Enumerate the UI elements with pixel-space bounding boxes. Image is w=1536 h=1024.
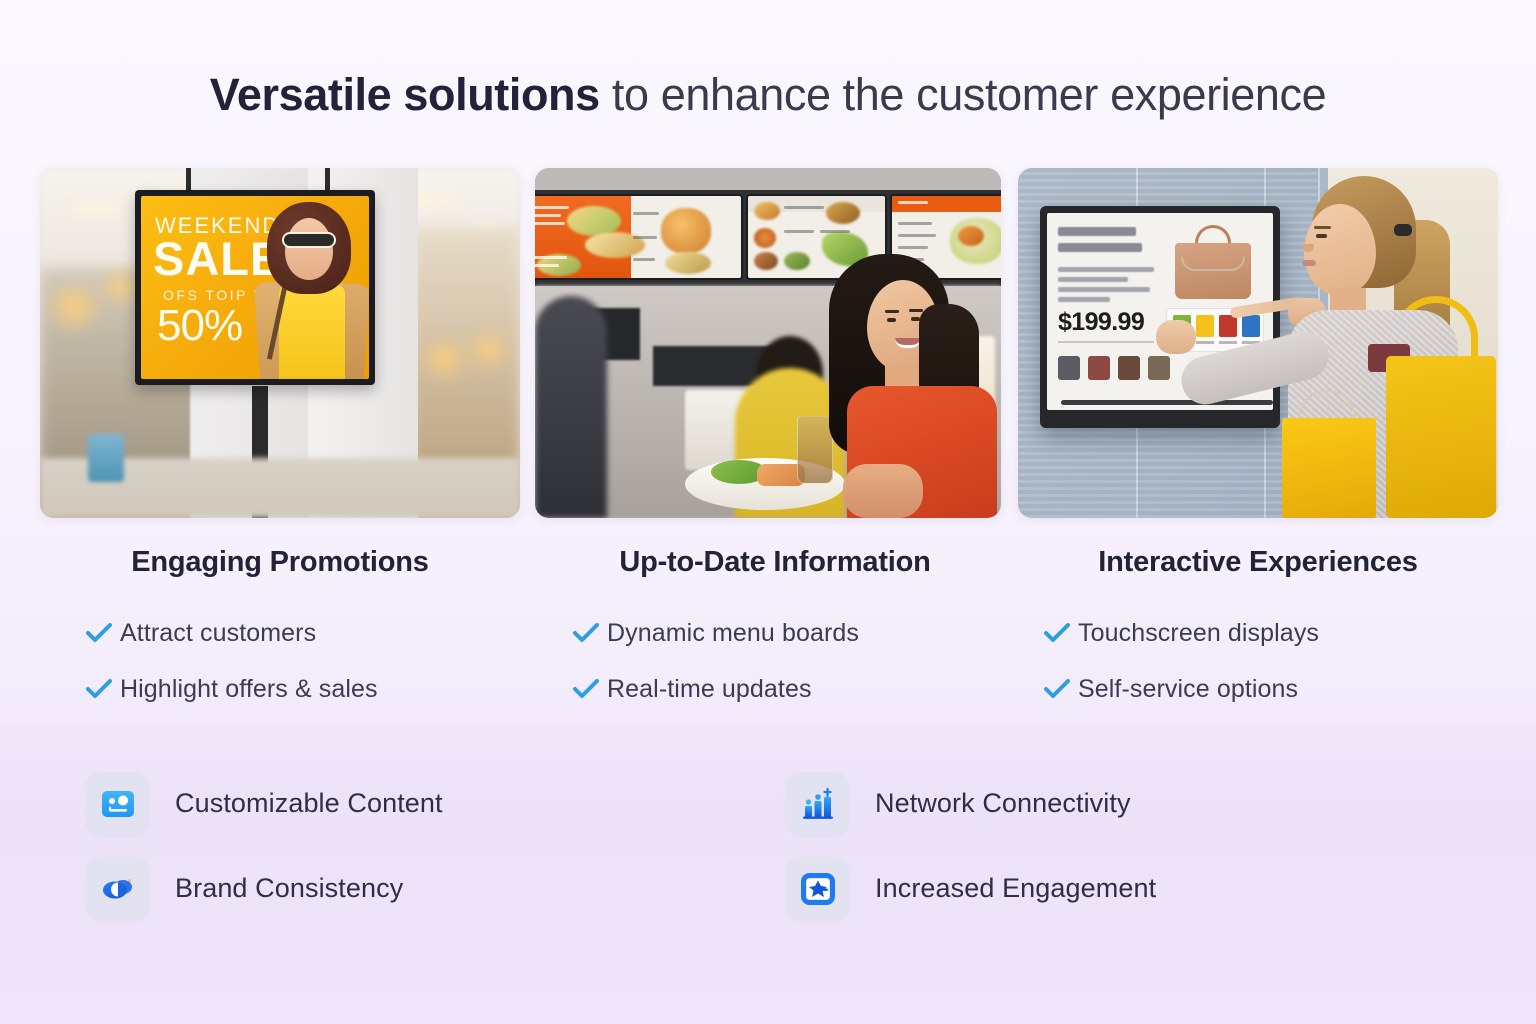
list-item: Real-time updates: [573, 661, 1015, 717]
shopper-figure: [1268, 168, 1498, 518]
feature-label: Customizable Content: [175, 788, 443, 819]
list-item: Dynamic menu boards: [573, 605, 1015, 661]
list-item: Highlight offers & sales: [86, 661, 520, 717]
signage-model-figure: [251, 202, 369, 377]
card-up-to-date-information: Up-to-Date Information Dynamic menu boar…: [535, 168, 1015, 717]
list-item-label: Dynamic menu boards: [607, 619, 859, 648]
feature-brand-consistency[interactable]: Brand Consistency: [86, 857, 403, 920]
feature-cards: WEEKEND SALE OFS TOIP TO 50%: [40, 168, 1496, 728]
card-bullet-list: Dynamic menu boards Real-time updates: [535, 605, 1015, 717]
check-icon: [86, 679, 120, 699]
network-connectivity-icon: [786, 772, 849, 835]
customizable-content-icon: [86, 772, 149, 835]
list-item-label: Attract customers: [120, 619, 316, 648]
list-item-label: Highlight offers & sales: [120, 675, 378, 704]
page-title-bold: Versatile solutions: [210, 69, 600, 120]
page-title: Versatile solutions to enhance the custo…: [0, 70, 1536, 120]
mall-digital-signage-photo: WEEKEND SALE OFS TOIP TO 50%: [40, 168, 520, 518]
check-icon: [1044, 623, 1078, 643]
card-title: Engaging Promotions: [40, 546, 520, 579]
signage-line-4: 50%: [157, 301, 242, 351]
card-bullet-list: Touchscreen displays Self-service option…: [1018, 605, 1498, 717]
feature-network-connectivity[interactable]: Network Connectivity: [786, 772, 1131, 835]
product-thumbnail-row: [1058, 356, 1188, 382]
kiosk-price: $199.99: [1058, 308, 1144, 337]
signage-screen: WEEKEND SALE OFS TOIP TO 50%: [135, 190, 375, 385]
menu-board: [535, 196, 741, 278]
feature-increased-engagement[interactable]: Increased Engagement: [786, 857, 1156, 920]
check-icon: [1044, 679, 1078, 699]
feature-label: Increased Engagement: [875, 873, 1156, 904]
check-icon: [573, 679, 607, 699]
feature-label: Brand Consistency: [175, 873, 403, 904]
feature-label: Network Connectivity: [875, 788, 1131, 819]
list-item: Touchscreen displays: [1044, 605, 1498, 661]
retail-touchscreen-kiosk-photo: $199.99: [1018, 168, 1498, 518]
feature-customizable-content[interactable]: Customizable Content: [86, 772, 443, 835]
slide-canvas: Versatile solutions to enhance the custo…: [0, 0, 1536, 1024]
list-item-label: Self-service options: [1078, 675, 1298, 704]
page-title-rest: to enhance the customer experience: [600, 69, 1326, 120]
list-item-label: Real-time updates: [607, 675, 812, 704]
card-title: Up-to-Date Information: [535, 546, 1015, 579]
check-icon: [573, 623, 607, 643]
list-item-label: Touchscreen displays: [1078, 619, 1319, 648]
restaurant-menu-boards-photo: [535, 168, 1001, 518]
card-bullet-list: Attract customers Highlight offers & sal…: [40, 605, 520, 717]
list-item: Self-service options: [1044, 661, 1498, 717]
brand-consistency-icon: [86, 857, 149, 920]
increased-engagement-icon: [786, 857, 849, 920]
customer-figure: [841, 254, 991, 518]
card-title: Interactive Experiences: [1018, 546, 1498, 579]
card-interactive-experiences: $199.99: [1018, 168, 1498, 717]
check-icon: [86, 623, 120, 643]
list-item: Attract customers: [86, 605, 520, 661]
card-engaging-promotions: WEEKEND SALE OFS TOIP TO 50%: [40, 168, 520, 717]
